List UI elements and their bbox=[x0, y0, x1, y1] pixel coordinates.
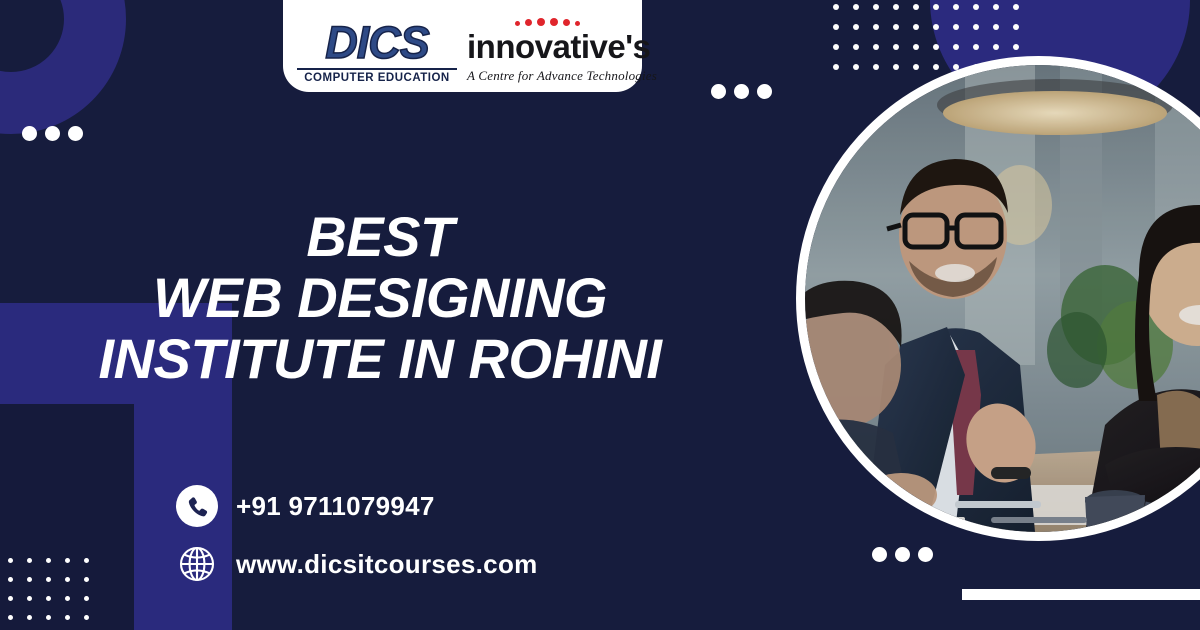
logo-innovatives-block: innovative's A Centre for Advance Techno… bbox=[467, 14, 657, 84]
hero-photo-circle bbox=[796, 56, 1200, 541]
decor-dot-trio-lowerright bbox=[872, 547, 933, 562]
promo-banner: DICS COMPUTER EDUCATION innovative's A C… bbox=[0, 0, 1200, 630]
hero-photo bbox=[805, 65, 1200, 532]
headline-line-3: INSTITUTE IN ROHINI bbox=[0, 328, 760, 389]
globe-icon bbox=[176, 543, 218, 585]
website-url: www.dicsitcourses.com bbox=[236, 549, 538, 580]
contact-info: +91 9711079947 www.dicsitcourses.com bbox=[176, 485, 538, 601]
logo-dics-block: DICS COMPUTER EDUCATION bbox=[297, 20, 457, 84]
logo-brand-text: DICS bbox=[297, 20, 457, 65]
decor-dot-trio-header bbox=[711, 84, 772, 99]
contact-phone-row[interactable]: +91 9711079947 bbox=[176, 485, 538, 527]
hero-photo-illustration bbox=[805, 65, 1200, 532]
decor-dot-trio-topleft bbox=[22, 126, 83, 141]
headline-line-1: BEST bbox=[0, 206, 760, 267]
logo-brand-subtitle: COMPUTER EDUCATION bbox=[297, 72, 457, 84]
headline-line-2: WEB DESIGNING bbox=[0, 267, 760, 328]
brand-logo[interactable]: DICS COMPUTER EDUCATION innovative's A C… bbox=[283, 0, 642, 92]
logo-divider bbox=[297, 68, 457, 70]
logo-secondary-brand-text: innovative's bbox=[467, 30, 657, 63]
page-title: BEST WEB DESIGNING INSTITUTE IN ROHINI bbox=[0, 206, 760, 389]
phone-icon bbox=[176, 485, 218, 527]
logo-tagline: A Centre for Advance Technologies bbox=[467, 68, 657, 84]
decor-bottom-white-bar bbox=[962, 589, 1200, 600]
phone-number: +91 9711079947 bbox=[236, 491, 435, 522]
decor-dot-grid-bottomleft bbox=[8, 558, 103, 630]
logo-red-dots-icon bbox=[515, 18, 580, 26]
decor-ring-shape bbox=[0, 0, 126, 134]
contact-website-row[interactable]: www.dicsitcourses.com bbox=[176, 543, 538, 585]
